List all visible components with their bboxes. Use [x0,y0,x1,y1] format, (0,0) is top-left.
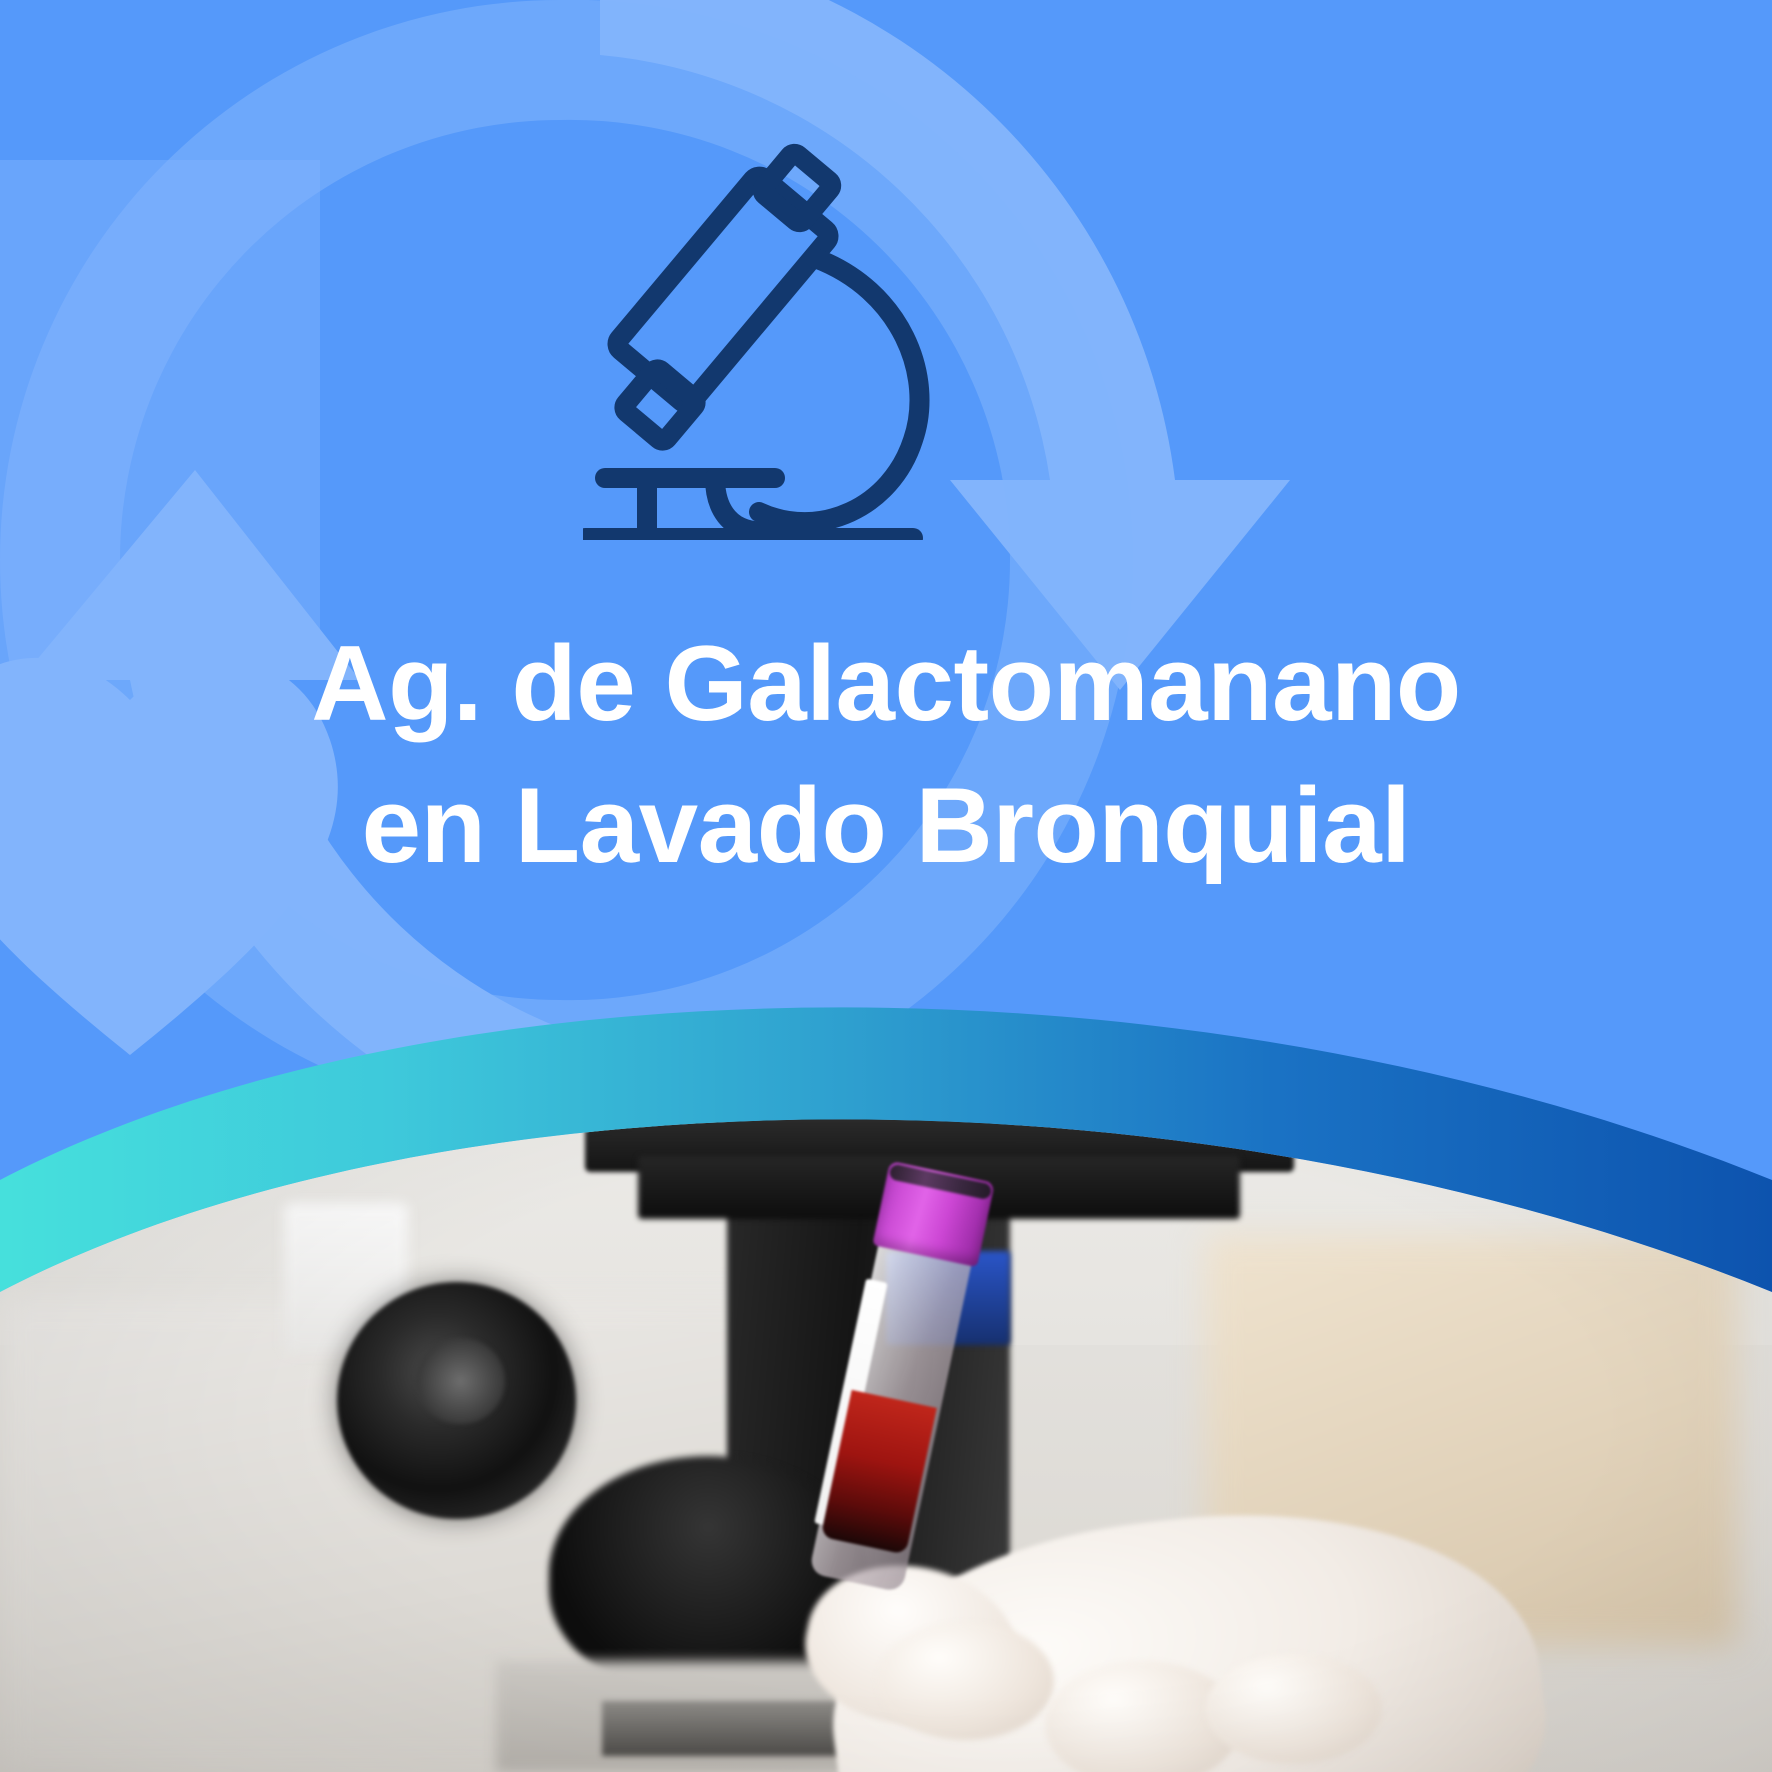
bottom-photo-scene [0,982,1772,1772]
microscope-objective [622,367,698,443]
microscope-icon [583,140,963,540]
square-watermark [0,160,320,680]
title-line-1: Ag. de Galactomanano [70,612,1702,754]
arrow-arc-watermark [0,0,1133,1120]
page-title: Ag. de Galactomanano en Lavado Bronquial [0,612,1772,897]
title-line-2: en Lavado Bronquial [70,754,1702,896]
microscope-eyepiece-cap [760,151,833,224]
decorative-curve-band [0,982,1772,1772]
curve-band [0,1007,1772,1292]
promo-card: Ag. de Galactomanano en Lavado Bronquial [0,0,1772,1772]
